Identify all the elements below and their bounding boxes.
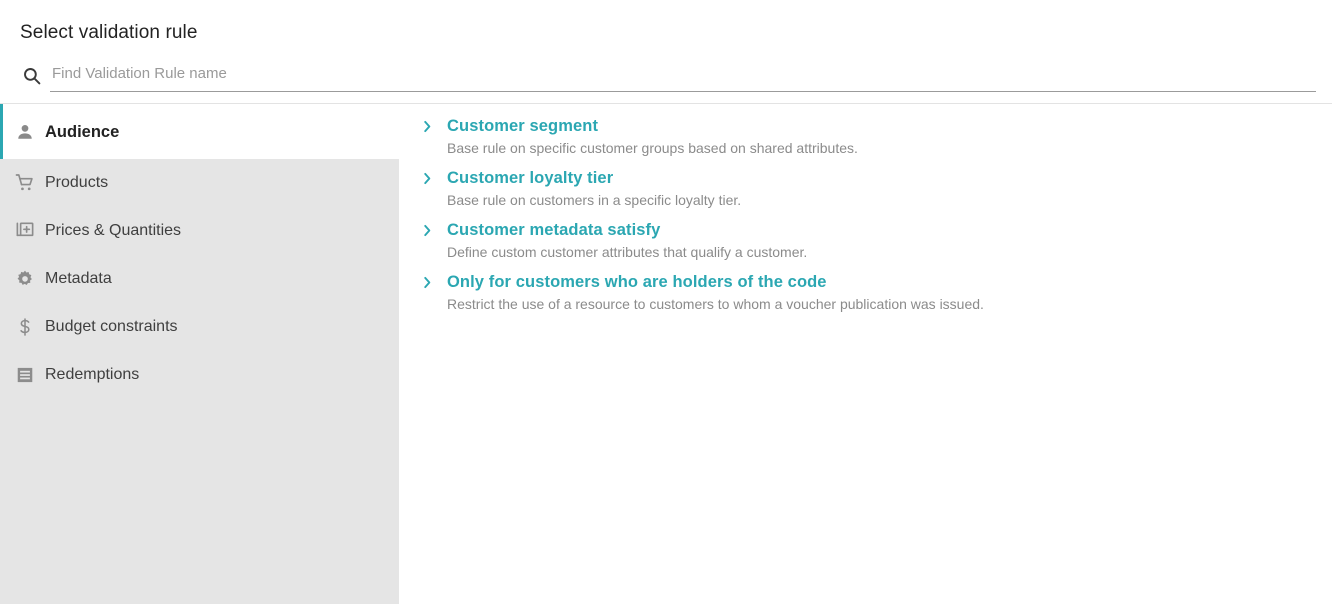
rule-description: Base rule on specific customer groups ba…: [447, 138, 1332, 158]
sidebar-item-label: Prices & Quantities: [45, 221, 181, 241]
rule-title: Customer metadata satisfy: [447, 219, 1332, 241]
rule-title: Customer segment: [447, 115, 1332, 137]
chevron-right-icon: [422, 118, 434, 134]
sidebar-item-label: Budget constraints: [45, 317, 178, 337]
layers-add-icon: [14, 220, 36, 242]
sidebar-item-redemptions[interactable]: Redemptions: [0, 351, 399, 399]
chevron-right-icon: [422, 274, 434, 290]
sidebar-item-metadata[interactable]: Metadata: [0, 255, 399, 303]
sidebar-item-budget-constraints[interactable]: Budget constraints: [0, 303, 399, 351]
rule-list: Customer segment Base rule on specific c…: [399, 104, 1332, 604]
validation-rule-picker: Select validation rule Audience: [0, 0, 1332, 604]
rule-item-customer-loyalty-tier[interactable]: Customer loyalty tier Base rule on custo…: [399, 167, 1332, 219]
gear-icon: [14, 268, 36, 290]
shopping-cart-icon: [14, 172, 36, 194]
rule-description: Base rule on customers in a specific loy…: [447, 190, 1332, 210]
sidebar-item-label: Redemptions: [45, 365, 139, 385]
chevron-right-icon: [422, 170, 434, 186]
search-icon: [22, 66, 42, 86]
rule-item-customer-metadata-satisfy[interactable]: Customer metadata satisfy Define custom …: [399, 219, 1332, 271]
sidebar-item-products[interactable]: Products: [0, 159, 399, 207]
person-icon: [14, 121, 36, 143]
sidebar-item-prices-quantities[interactable]: Prices & Quantities: [0, 207, 399, 255]
receipt-icon: [14, 364, 36, 386]
page-title: Select validation rule: [20, 21, 198, 45]
search-input[interactable]: [50, 60, 1316, 92]
dollar-icon: [14, 316, 36, 338]
sidebar-item-label: Audience: [45, 122, 119, 142]
sidebar-item-label: Products: [45, 173, 108, 193]
sidebar: Audience Products: [0, 104, 399, 604]
rule-description: Define custom customer attributes that q…: [447, 242, 1332, 262]
sidebar-item-label: Metadata: [45, 269, 112, 289]
chevron-right-icon: [422, 222, 434, 238]
sidebar-item-audience[interactable]: Audience: [0, 104, 399, 159]
search-row: [0, 58, 1332, 94]
rule-item-code-holders[interactable]: Only for customers who are holders of th…: [399, 271, 1332, 323]
rule-title: Customer loyalty tier: [447, 167, 1332, 189]
rule-item-customer-segment[interactable]: Customer segment Base rule on specific c…: [399, 115, 1332, 167]
rule-title: Only for customers who are holders of th…: [447, 271, 1332, 293]
rule-description: Restrict the use of a resource to custom…: [447, 294, 1332, 314]
